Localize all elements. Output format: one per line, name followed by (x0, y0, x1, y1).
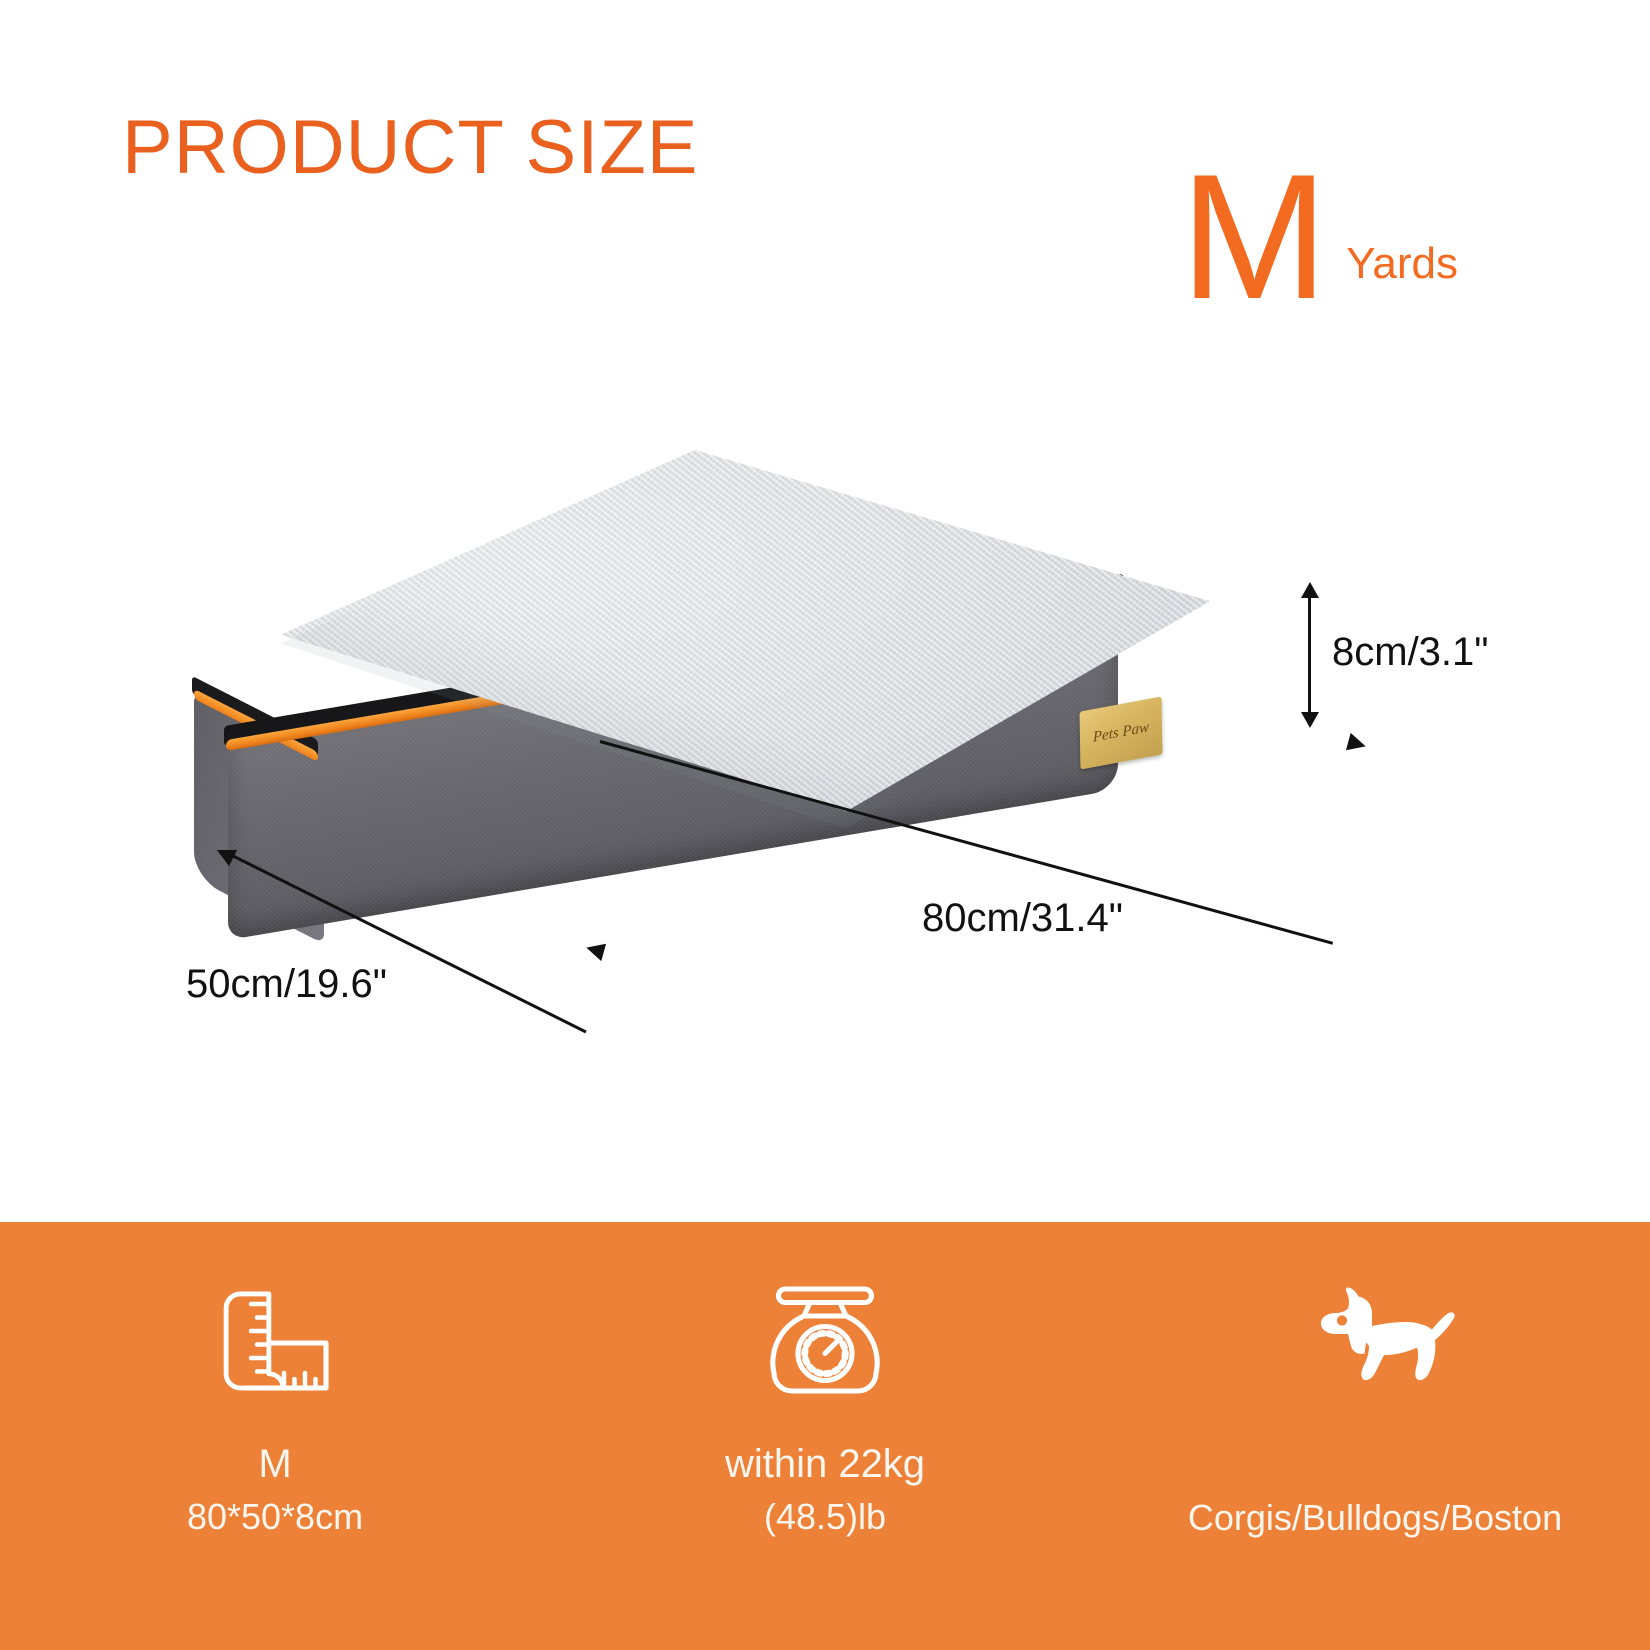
spec-weight-limit: within 22kg (725, 1440, 925, 1489)
height-arrow-up-icon (1301, 582, 1319, 598)
spec-size-dimensions: 80*50*8cm (187, 1495, 363, 1539)
product-size-infographic: PRODUCT SIZE M Yards Pets Paw 8cm/3.1" 8… (0, 0, 1650, 1650)
spec-breeds-list: Corgis/Bulldogs/Boston (1188, 1496, 1562, 1540)
ruler-icon (200, 1268, 350, 1418)
brand-label-mark: Pets Paw (1093, 719, 1150, 746)
height-arrow-down-icon (1301, 712, 1319, 728)
page-title: PRODUCT SIZE (122, 104, 698, 191)
length-dimension-label: 80cm/31.4" (922, 896, 1123, 941)
brand-name: Yards (1346, 239, 1458, 289)
spec-size-label: M (258, 1440, 291, 1489)
kitchen-scale-icon (750, 1268, 900, 1418)
height-dimension-line (1308, 590, 1311, 720)
spec-cell-size: M 80*50*8cm (0, 1222, 550, 1539)
depth-dimension-label: 50cm/19.6" (186, 962, 387, 1007)
spec-cell-weight: within 22kg (48.5)lb (550, 1222, 1100, 1539)
specs-banner: M 80*50*8cm within 22kg (48.5)lb (0, 1222, 1650, 1650)
spec-cell-breeds: Corgis/Bulldogs/Boston (1100, 1222, 1650, 1540)
size-badge: M Yards (1180, 168, 1458, 307)
dog-icon (1282, 1268, 1468, 1418)
height-dimension-label: 8cm/3.1" (1332, 630, 1488, 675)
spec-weight-limit-lb: (48.5)lb (764, 1495, 886, 1539)
size-badge-letter: M (1180, 168, 1326, 307)
